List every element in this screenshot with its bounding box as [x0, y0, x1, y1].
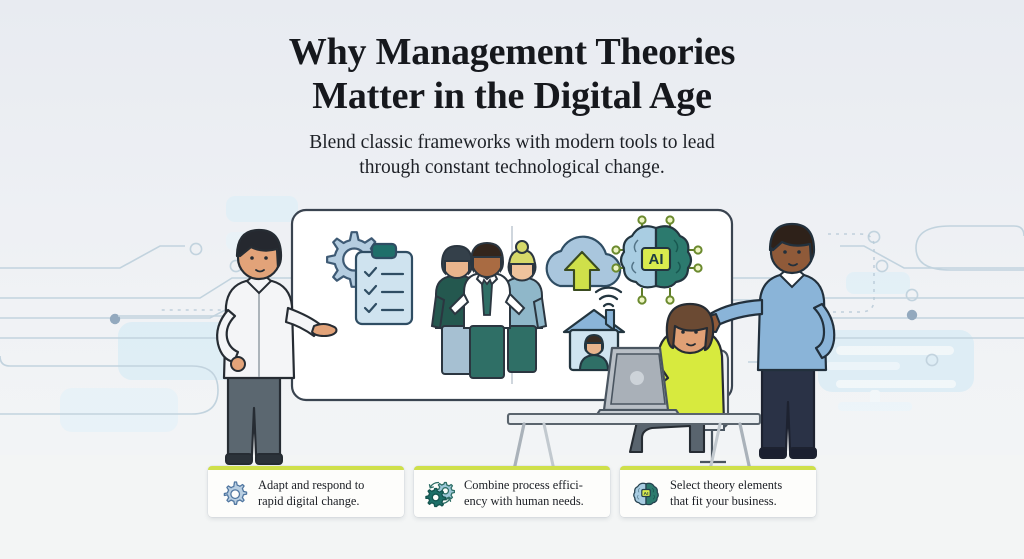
feature-card-1-text: Adapt and respond to rapid digital chang… [258, 477, 364, 509]
title-line-1: Why Management Theories [0, 30, 1024, 74]
page-title: Why Management Theories Matter in the Di… [0, 30, 1024, 119]
clipboard-checklist-icon [356, 244, 412, 324]
page-subtitle: Blend classic frameworks with modern too… [0, 131, 1024, 181]
feature-card-2[interactable]: Combine process effici- ency with human … [414, 466, 610, 517]
gear-icon [219, 478, 249, 508]
process-gears-icon [425, 478, 455, 508]
team-of-three-people-icon [432, 241, 546, 378]
svg-text:AI: AI [644, 491, 650, 497]
main-illustration: AI [0, 180, 1024, 490]
header: Why Management Theories Matter in the Di… [0, 30, 1024, 181]
feature-card-2-text: Combine process effici- ency with human … [464, 477, 584, 509]
feature-cards: Adapt and respond to rapid digital chang… [0, 466, 1024, 517]
laptop-logo [630, 371, 644, 385]
title-line-2: Matter in the Digital Age [0, 74, 1024, 118]
subtitle-line-1: Blend classic frameworks with modern too… [0, 131, 1024, 156]
presenter-open-hand [312, 324, 337, 336]
feature-card-1[interactable]: Adapt and respond to rapid digital chang… [208, 466, 404, 517]
subtitle-line-2: through constant technological change. [0, 156, 1024, 181]
infographic-stage: Why Management Theories Matter in the Di… [0, 0, 1024, 559]
ai-badge-label: AI [649, 251, 664, 268]
feature-card-3-text: Select theory elements that fit your bus… [670, 477, 782, 509]
feature-card-3[interactable]: AI Select theory elements that fit your … [620, 466, 816, 517]
brain-ai-icon: AI [631, 478, 661, 508]
